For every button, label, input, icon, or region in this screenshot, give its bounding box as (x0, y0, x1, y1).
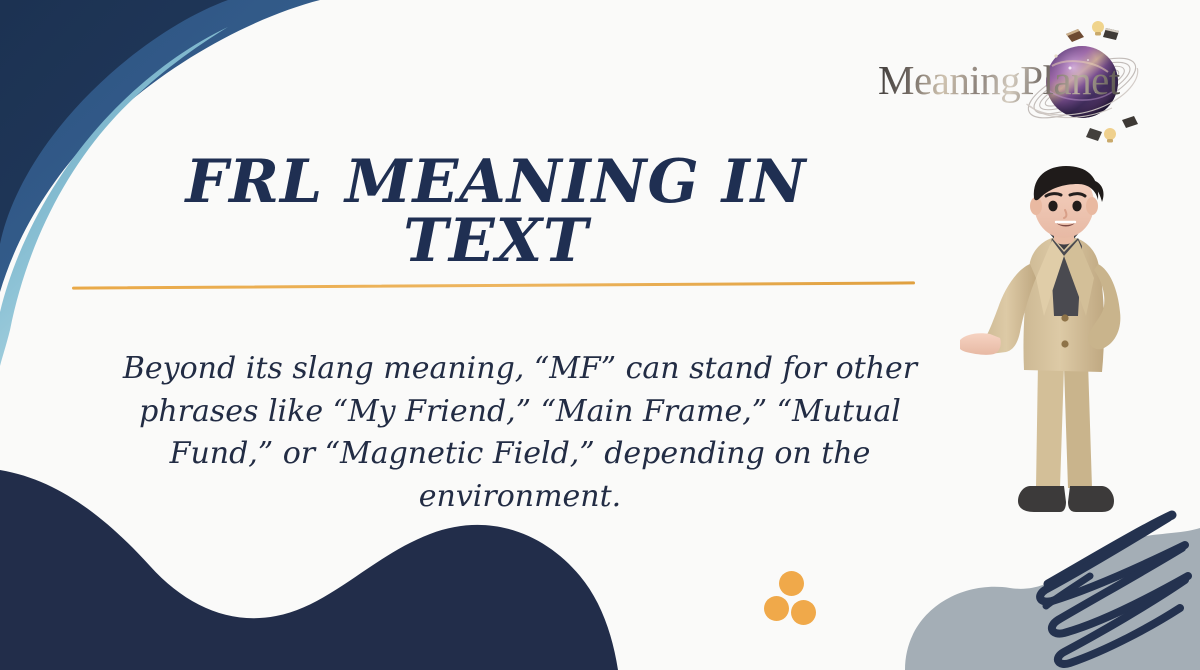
orange-dot (791, 600, 816, 625)
brand-wordmark: MeaningPlanet (878, 56, 1120, 104)
body-paragraph: Beyond its slang meaning, “MF” can stand… (110, 348, 930, 518)
orange-dot (764, 596, 789, 621)
businessman-presenting-3d-character (960, 166, 1170, 538)
orange-dot (779, 571, 804, 596)
page-title: FRL MEANING IN TEXT (96, 153, 896, 271)
brand-logo[interactable]: MeaningPlanet (878, 8, 1178, 156)
poster-canvas: MeaningPlanet FRL MEANING IN TEXT Beyond… (0, 0, 1200, 670)
